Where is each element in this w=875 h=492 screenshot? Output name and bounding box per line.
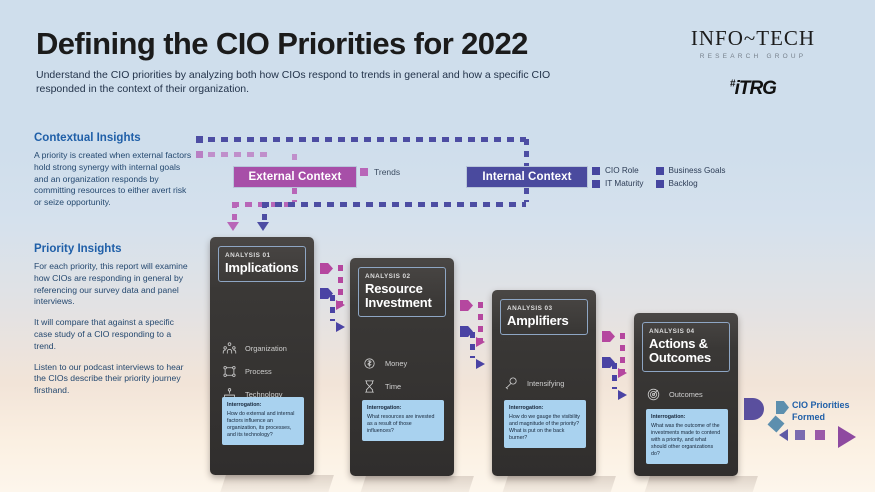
legend-item-it-maturity: IT Maturity [592,179,644,188]
analysis-card-resource-investment[interactable]: ANALYSIS 02 Resource Investment Money Ti… [350,258,454,476]
card-title: Implications [225,261,299,275]
card-header: ANALYSIS 02 Resource Investment [358,267,446,317]
trends-legend-label: Trends [374,167,400,177]
interrogation-label: Interrogation: [367,405,439,412]
card-item-label: Time [385,382,401,391]
analysis-card-actions-outcomes[interactable]: ANALYSIS 04 Actions & Outcomes Outcomes … [634,313,738,476]
trends-legend: Trends [360,167,400,177]
connector-square-pink [196,151,203,158]
arrowhead-pink-right [476,337,485,347]
interrogation-label: Interrogation: [227,402,299,409]
card-kicker: ANALYSIS 03 [507,305,581,312]
page-title: Defining the CIO Priorities for 2022 [36,26,528,62]
target-icon [646,387,661,402]
priority-insights-paragraph-2: It will compare that against a specific … [34,317,194,352]
card-item-label: Intensifying [527,379,564,388]
legend-swatch-icon [656,167,664,175]
contextual-insights-heading: Contextual Insights [34,132,141,144]
card-item-list: Outcomes [646,387,703,410]
interrogation-text: How do we gauge the visibility and magni… [509,414,580,441]
hourglass-icon [362,379,377,394]
legend-swatch-icon [592,167,600,175]
legend-label: Backlog [669,179,698,188]
connector-dashes-pink [478,302,483,342]
card-item-list: Intensifying [504,376,564,399]
outcome-flag-icon [776,401,789,414]
connector-dashes-pink [338,265,343,305]
card-item-label: Organization [245,344,287,353]
card-kicker: ANALYSIS 01 [225,252,299,259]
card-title: Amplifiers [507,314,581,328]
itrg-text: iTRG [735,78,776,99]
internal-context-legend: CIO Role Business Goals IT Maturity Back… [592,166,725,188]
arrowhead-internal-down [257,222,269,231]
trends-swatch-icon [360,168,368,176]
outcome-arrow-icon [838,426,856,448]
outcome-pill-icon [744,398,764,420]
legend-swatch-icon [592,180,600,188]
priority-insights-paragraph-1: For each priority, this report will exam… [34,261,194,308]
info-tech-logo-text: INFO~TECH [663,26,843,51]
connector-stem-internal-top [524,139,529,166]
page-header: Defining the CIO Priorities for 2022 Und… [0,0,875,112]
card-title: Actions & Outcomes [649,337,723,365]
legend-label: Business Goals [669,166,726,175]
arrowhead-pink-right [336,300,345,310]
card-item-time: Time [362,379,407,394]
outcome-square-icon [795,430,805,440]
connector-dashes-blue [612,363,617,389]
flag-arrow-pink [460,300,473,311]
connector-line-blue-top [208,137,526,142]
brand-logo: INFO~TECH RESEARCH GROUP #iTRG [663,26,843,100]
legend-item-cio-role: CIO Role [592,166,644,175]
connector-line-pink-top [208,152,268,157]
priority-insights-body: For each priority, this report will exam… [34,261,194,406]
internal-context-box[interactable]: Internal Context [466,166,588,188]
connector-dashes-blue [330,295,335,321]
outcome-square-magenta-icon [815,430,825,440]
magnifier-icon [504,376,519,391]
outcome-label: CIO Priorities Formed [792,400,872,423]
organization-icon [222,341,237,356]
legend-label: CIO Role [605,166,639,175]
info-tech-logo-tagline: RESEARCH GROUP [663,53,843,60]
arrowhead-blue-right [618,390,627,400]
interrogation-text: How do external and internal factors inf… [227,411,294,438]
external-context-box[interactable]: External Context [233,166,357,188]
connector-stem-external-bottom [292,188,297,202]
card-item-organization: Organization [222,341,287,356]
card-header: ANALYSIS 04 Actions & Outcomes [642,322,730,372]
interrogation-label: Interrogation: [651,414,723,421]
page-subtitle: Understand the CIO priorities by analyzi… [36,68,556,96]
money-icon [362,356,377,371]
contextual-insights-body: A priority is created when external fact… [34,150,194,209]
card-interrogation: Interrogation: How do we gauge the visib… [504,400,586,448]
interrogation-text: What was the outcome of the investments … [651,423,720,457]
legend-item-backlog: Backlog [656,179,726,188]
card-interrogation: Interrogation: What resources are invest… [362,400,444,441]
card-header: ANALYSIS 03 Amplifiers [500,299,588,335]
card-item-outcomes: Outcomes [646,387,703,402]
card-item-process: Process [222,364,287,379]
arrowhead-pink-right [618,368,627,378]
interrogation-label: Interrogation: [509,405,581,412]
connector-dashes-pink [620,333,625,373]
card-kicker: ANALYSIS 02 [365,273,439,280]
connector-line-internal-down [262,202,526,207]
card-item-intensifying: Intensifying [504,376,564,391]
card-interrogation: Interrogation: How do external and inter… [222,397,304,445]
card-item-label: Process [245,367,272,376]
analysis-card-implications[interactable]: ANALYSIS 01 Implications Organization Pr… [210,237,314,475]
arrowhead-external-down [227,222,239,231]
flag-arrow-pink [320,263,333,274]
legend-swatch-icon [656,180,664,188]
connector-drop-internal [262,202,267,224]
flag-arrow-pink [602,331,615,342]
priority-insights-paragraph-3: Listen to our podcast interviews to hear… [34,362,194,397]
card-item-money: Money [362,356,407,371]
card-item-label: Outcomes [669,390,703,399]
priority-insights-heading: Priority Insights [34,243,122,255]
legend-label: IT Maturity [605,179,644,188]
connector-stem-internal-bottom [524,188,529,202]
interrogation-text: What resources are invested as a result … [367,414,434,434]
card-kicker: ANALYSIS 04 [649,328,723,335]
card-interrogation: Interrogation: What was the outcome of t… [646,409,728,464]
connector-square-blue [196,136,203,143]
connector-dashes-blue [470,332,475,358]
process-icon [222,364,237,379]
connector-drop-external [232,202,237,224]
arrowhead-blue-right [476,359,485,369]
card-header: ANALYSIS 01 Implications [218,246,306,282]
analysis-card-amplifiers[interactable]: ANALYSIS 03 Amplifiers Intensifying Inte… [492,290,596,476]
itrg-logo: #iTRG [663,78,843,100]
card-item-list: Money Time [362,356,407,402]
outcome-diamond-icon [768,416,785,433]
card-item-label: Money [385,359,407,368]
arrowhead-blue-right [336,322,345,332]
card-title: Resource Investment [365,282,439,310]
legend-item-business-goals: Business Goals [656,166,726,175]
connector-stem-external-top [292,154,297,166]
